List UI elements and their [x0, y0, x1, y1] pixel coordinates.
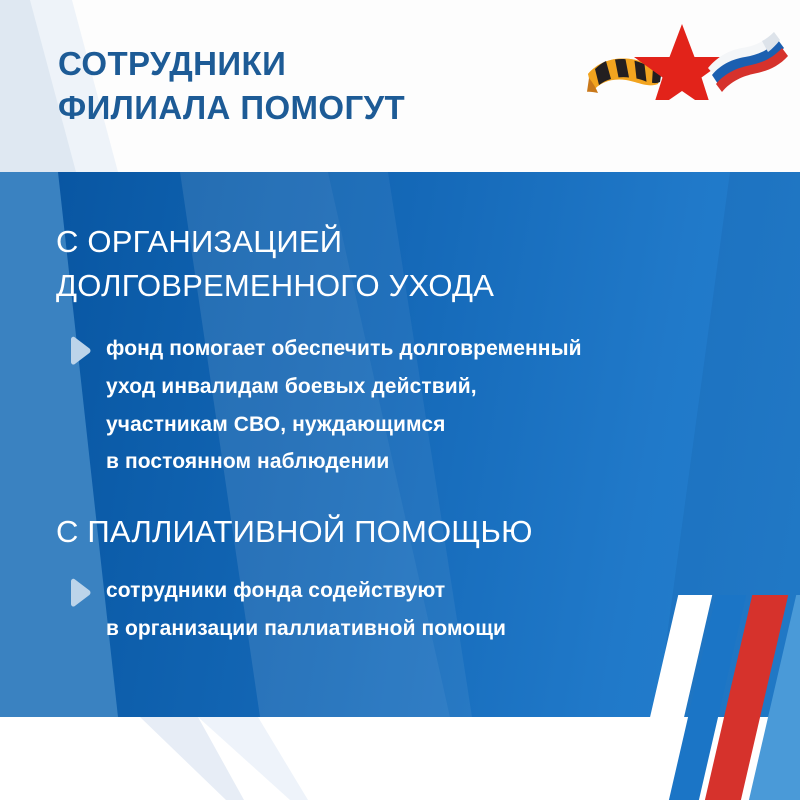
brand-logo: ЗАЩИТНИКИ ОТЕЧЕСТВА — [584, 22, 790, 144]
logo-mark-graphic — [584, 22, 790, 100]
bullet-item-palliative-care: сотрудники фонда содействуют в организац… — [62, 572, 506, 648]
poster-canvas: СОТРУДНИКИ ФИЛИАЛА ПОМОГУТ — [0, 0, 800, 800]
section-heading-long-term-care: С ОРГАНИЗАЦИЕЙ ДОЛГОВРЕМЕННОГО УХОДА — [56, 220, 494, 308]
section-heading-palliative-care: С ПАЛЛИАТИВНОЙ ПОМОЩЬЮ — [56, 510, 533, 554]
bullet-text-long-term-care: фонд помогает обеспечить долговременный … — [106, 330, 582, 481]
page-title: СОТРУДНИКИ ФИЛИАЛА ПОМОГУТ — [58, 42, 405, 130]
tricolor-stripe-decoration — [620, 595, 800, 800]
russian-flag-ribbon-icon — [708, 32, 788, 92]
play-triangle-bullet-icon — [62, 576, 96, 610]
play-triangle-bullet-icon — [62, 334, 96, 368]
bullet-item-long-term-care: фонд помогает обеспечить долговременный … — [62, 330, 582, 481]
bullet-text-palliative-care: сотрудники фонда содействуют в организац… — [106, 572, 506, 648]
